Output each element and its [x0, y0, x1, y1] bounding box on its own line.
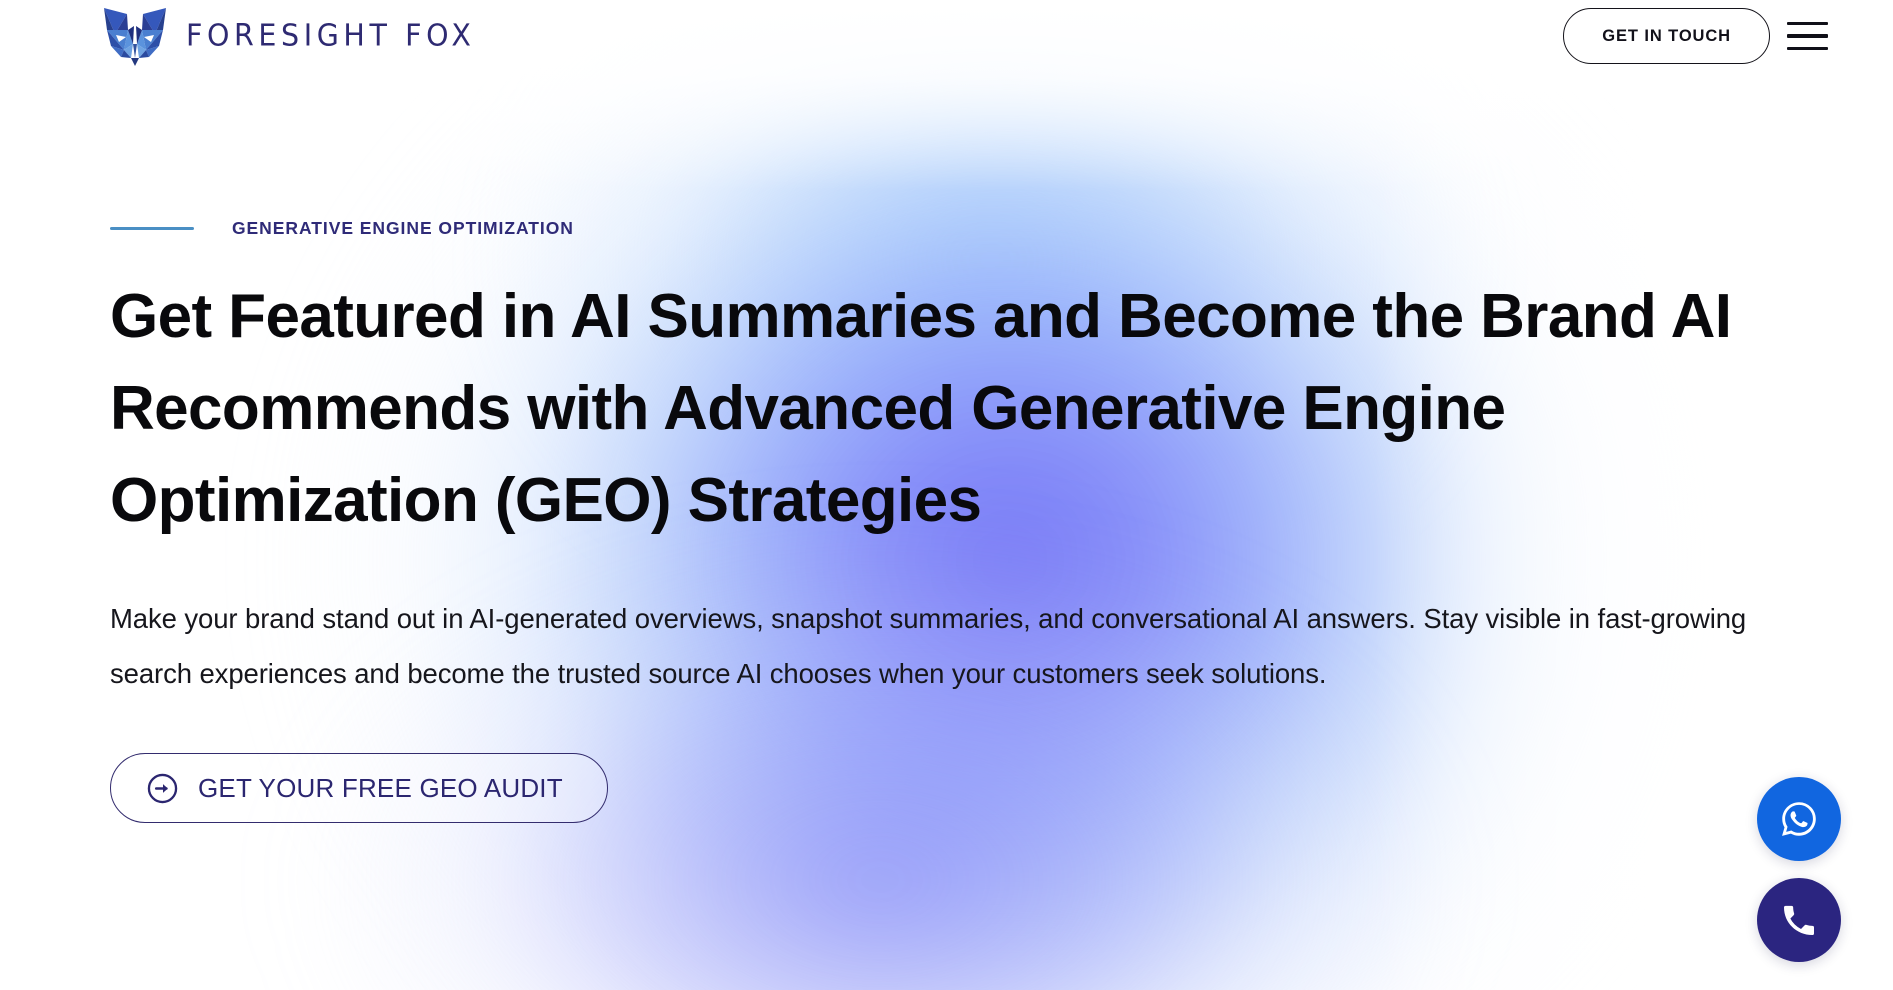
hamburger-bar-3	[1787, 47, 1828, 50]
hamburger-menu-icon[interactable]	[1787, 16, 1831, 56]
brand-wordmark: FORESIGHT FOX	[186, 18, 475, 53]
arrow-right-circle-icon	[147, 773, 178, 804]
hamburger-bar-2	[1787, 34, 1828, 37]
floating-action-stack	[1757, 777, 1841, 962]
eyebrow-rule	[110, 227, 194, 230]
cta-label: GET YOUR FREE GEO AUDIT	[198, 773, 563, 804]
phone-call-button[interactable]	[1757, 878, 1841, 962]
hamburger-bar-1	[1787, 22, 1828, 25]
site-header: FORESIGHT FOX GET IN TOUCH	[0, 0, 1893, 78]
whatsapp-icon	[1778, 798, 1820, 840]
fox-head-icon	[101, 4, 169, 66]
get-free-geo-audit-button[interactable]: GET YOUR FREE GEO AUDIT	[110, 753, 608, 823]
phone-icon	[1779, 900, 1819, 940]
page-title: Get Featured in AI Summaries and Become …	[110, 271, 1800, 547]
brand-logo-link[interactable]: FORESIGHT FOX	[101, 4, 475, 66]
hero-subtitle: Make your brand stand out in AI-generate…	[110, 591, 1800, 701]
hero-eyebrow: GENERATIVE ENGINE OPTIMIZATION	[110, 218, 1810, 239]
whatsapp-button[interactable]	[1757, 777, 1841, 861]
eyebrow-label: GENERATIVE ENGINE OPTIMIZATION	[232, 218, 574, 239]
hero-section: GENERATIVE ENGINE OPTIMIZATION Get Featu…	[110, 218, 1810, 823]
get-in-touch-button[interactable]: GET IN TOUCH	[1563, 8, 1770, 64]
